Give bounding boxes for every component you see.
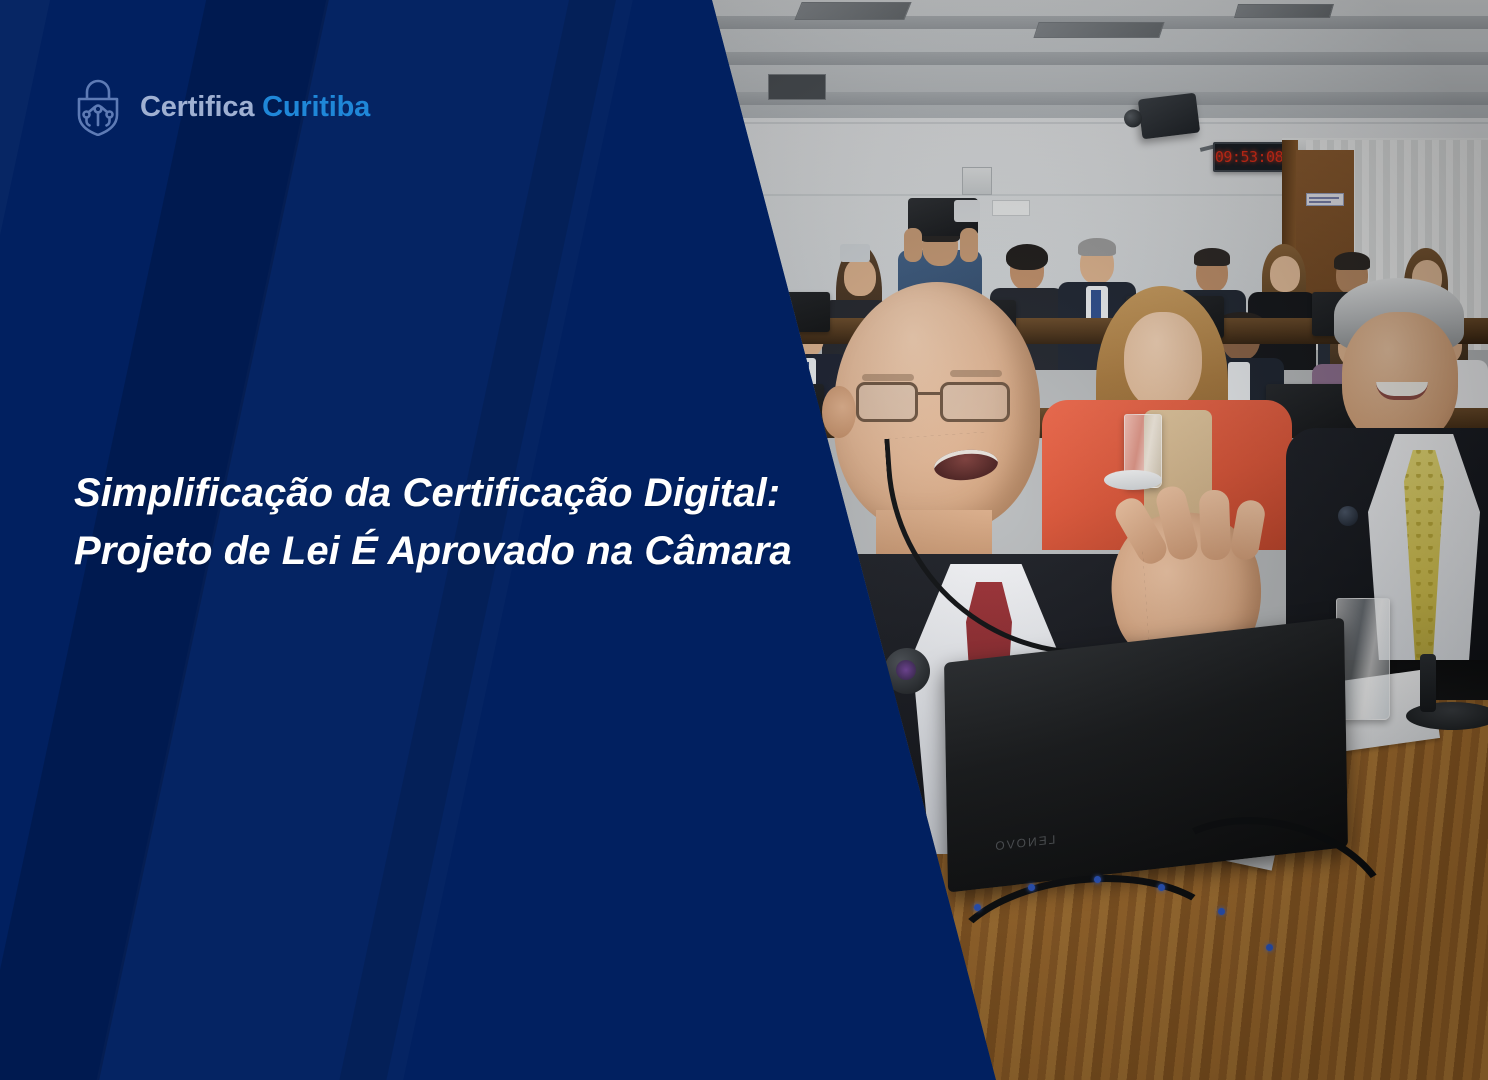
- laptop-brand-label: LENOVO: [993, 832, 1055, 853]
- brand-word-certifica: Certifica: [140, 91, 254, 123]
- microphone-base: [1406, 702, 1488, 730]
- banner-stage: 09:53:08: [0, 0, 1488, 1080]
- microphone-stem: [1420, 654, 1436, 712]
- brand-wordmark: Certifica Curitiba: [140, 93, 370, 122]
- ceiling: [706, 0, 1488, 122]
- padlock-circuit-icon: [70, 78, 126, 136]
- brand-word-curitiba: Curitiba: [262, 91, 370, 123]
- headline-title: Simplificação da Certificação Digital: P…: [74, 465, 814, 580]
- clock-time: 09:53:08: [1215, 148, 1283, 166]
- brand-logo[interactable]: Certifica Curitiba: [70, 78, 370, 136]
- eyeglasses-icon: [856, 382, 1038, 422]
- tv-camera-icon: [1138, 93, 1200, 140]
- digital-clock: 09:53:08: [1213, 142, 1285, 172]
- lapel-pin-icon: [1338, 506, 1358, 526]
